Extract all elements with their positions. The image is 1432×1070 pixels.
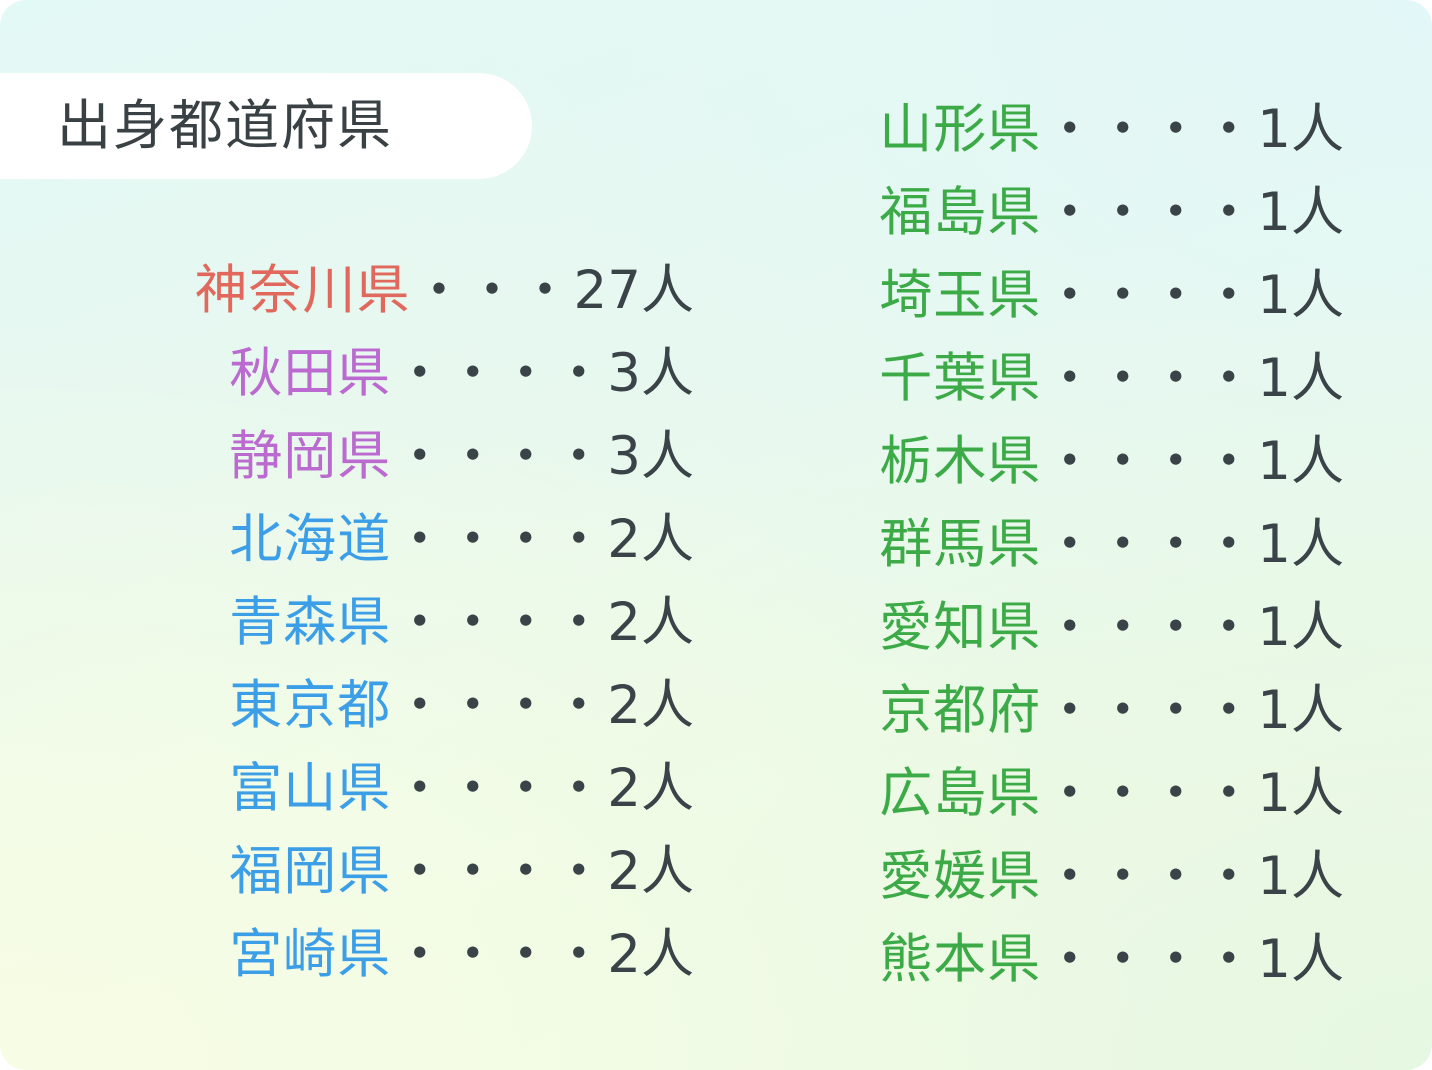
prefecture-name: 愛知県 — [879, 586, 1041, 669]
prefecture-row: 群馬県・・・・1人 — [716, 503, 1432, 586]
prefecture-name: 神奈川県 — [195, 249, 411, 332]
prefecture-name: 山形県 — [879, 88, 1041, 171]
prefecture-count: 1人 — [1257, 586, 1344, 669]
prefecture-count: 1人 — [1257, 835, 1344, 918]
prefecture-name: 群馬県 — [879, 503, 1041, 586]
prefecture-name: 東京都 — [229, 664, 391, 747]
prefecture-row: 青森県・・・・2人 — [0, 581, 712, 664]
prefecture-column-right: 山形県・・・・1人福島県・・・・1人埼玉県・・・・1人千葉県・・・・1人栃木県・… — [716, 88, 1432, 1001]
leader-dots: ・・・・ — [391, 498, 607, 581]
prefecture-row: 埼玉県・・・・1人 — [716, 254, 1432, 337]
leader-dots: ・・・・ — [1041, 171, 1257, 254]
prefecture-row: 千葉県・・・・1人 — [716, 337, 1432, 420]
leader-dots: ・・・・ — [1041, 669, 1257, 752]
prefecture-name: 千葉県 — [879, 337, 1041, 420]
prefecture-name: 京都府 — [879, 669, 1041, 752]
leader-dots: ・・・・ — [391, 747, 607, 830]
leader-dots: ・・・・ — [1041, 337, 1257, 420]
prefecture-count: 3人 — [607, 415, 694, 498]
prefecture-count: 1人 — [1257, 503, 1344, 586]
prefecture-row: 熊本県・・・・1人 — [716, 918, 1432, 1001]
prefecture-list: 神奈川県・・・27人秋田県・・・・3人静岡県・・・・3人北海道・・・・2人青森県… — [0, 0, 1432, 1070]
prefecture-count: 2人 — [607, 747, 694, 830]
leader-dots: ・・・・ — [391, 415, 607, 498]
prefecture-row: 宮崎県・・・・2人 — [0, 913, 712, 996]
prefecture-count: 1人 — [1257, 171, 1344, 254]
prefecture-row: 北海道・・・・2人 — [0, 498, 712, 581]
prefecture-count: 1人 — [1257, 752, 1344, 835]
prefecture-name: 秋田県 — [229, 332, 391, 415]
prefecture-count: 2人 — [607, 664, 694, 747]
leader-dots: ・・・・ — [391, 581, 607, 664]
prefecture-row: 秋田県・・・・3人 — [0, 332, 712, 415]
prefecture-count: 2人 — [607, 498, 694, 581]
leader-dots: ・・・・ — [1041, 420, 1257, 503]
leader-dots: ・・・・ — [1041, 918, 1257, 1001]
prefecture-column-left: 神奈川県・・・27人秋田県・・・・3人静岡県・・・・3人北海道・・・・2人青森県… — [0, 249, 712, 996]
prefecture-name: 栃木県 — [879, 420, 1041, 503]
prefecture-name: 熊本県 — [879, 918, 1041, 1001]
prefecture-name: 広島県 — [879, 752, 1041, 835]
prefecture-name: 宮崎県 — [229, 913, 391, 996]
prefecture-count: 1人 — [1257, 918, 1344, 1001]
prefecture-row: 山形県・・・・1人 — [716, 88, 1432, 171]
leader-dots: ・・・・ — [1041, 752, 1257, 835]
prefecture-row: 広島県・・・・1人 — [716, 752, 1432, 835]
prefecture-count: 27人 — [574, 249, 694, 332]
prefecture-row: 静岡県・・・・3人 — [0, 415, 712, 498]
prefecture-name: 愛媛県 — [879, 835, 1041, 918]
leader-dots: ・・・ — [411, 249, 574, 332]
leader-dots: ・・・・ — [391, 913, 607, 996]
leader-dots: ・・・・ — [1041, 586, 1257, 669]
prefecture-count: 1人 — [1257, 88, 1344, 171]
prefecture-row: 福岡県・・・・2人 — [0, 830, 712, 913]
leader-dots: ・・・・ — [1041, 254, 1257, 337]
prefecture-name: 福岡県 — [229, 830, 391, 913]
leader-dots: ・・・・ — [391, 830, 607, 913]
prefecture-name: 静岡県 — [229, 415, 391, 498]
prefecture-count: 2人 — [607, 581, 694, 664]
prefecture-name: 青森県 — [229, 581, 391, 664]
prefecture-row: 富山県・・・・2人 — [0, 747, 712, 830]
prefecture-row: 愛媛県・・・・1人 — [716, 835, 1432, 918]
prefecture-count: 1人 — [1257, 254, 1344, 337]
leader-dots: ・・・・ — [1041, 835, 1257, 918]
prefecture-count: 2人 — [607, 830, 694, 913]
leader-dots: ・・・・ — [391, 332, 607, 415]
prefecture-count: 1人 — [1257, 420, 1344, 503]
prefecture-count: 3人 — [607, 332, 694, 415]
prefecture-row: 愛知県・・・・1人 — [716, 586, 1432, 669]
prefecture-count: 1人 — [1257, 337, 1344, 420]
leader-dots: ・・・・ — [1041, 503, 1257, 586]
prefecture-count: 1人 — [1257, 669, 1344, 752]
infographic-card: 出身都道府県 神奈川県・・・27人秋田県・・・・3人静岡県・・・・3人北海道・・… — [0, 0, 1432, 1070]
leader-dots: ・・・・ — [1041, 88, 1257, 171]
prefecture-name: 福島県 — [879, 171, 1041, 254]
prefecture-row: 栃木県・・・・1人 — [716, 420, 1432, 503]
prefecture-count: 2人 — [607, 913, 694, 996]
prefecture-row: 京都府・・・・1人 — [716, 669, 1432, 752]
prefecture-row: 東京都・・・・2人 — [0, 664, 712, 747]
prefecture-name: 富山県 — [229, 747, 391, 830]
prefecture-name: 埼玉県 — [879, 254, 1041, 337]
leader-dots: ・・・・ — [391, 664, 607, 747]
prefecture-row: 神奈川県・・・27人 — [0, 249, 712, 332]
prefecture-name: 北海道 — [229, 498, 391, 581]
prefecture-row: 福島県・・・・1人 — [716, 171, 1432, 254]
